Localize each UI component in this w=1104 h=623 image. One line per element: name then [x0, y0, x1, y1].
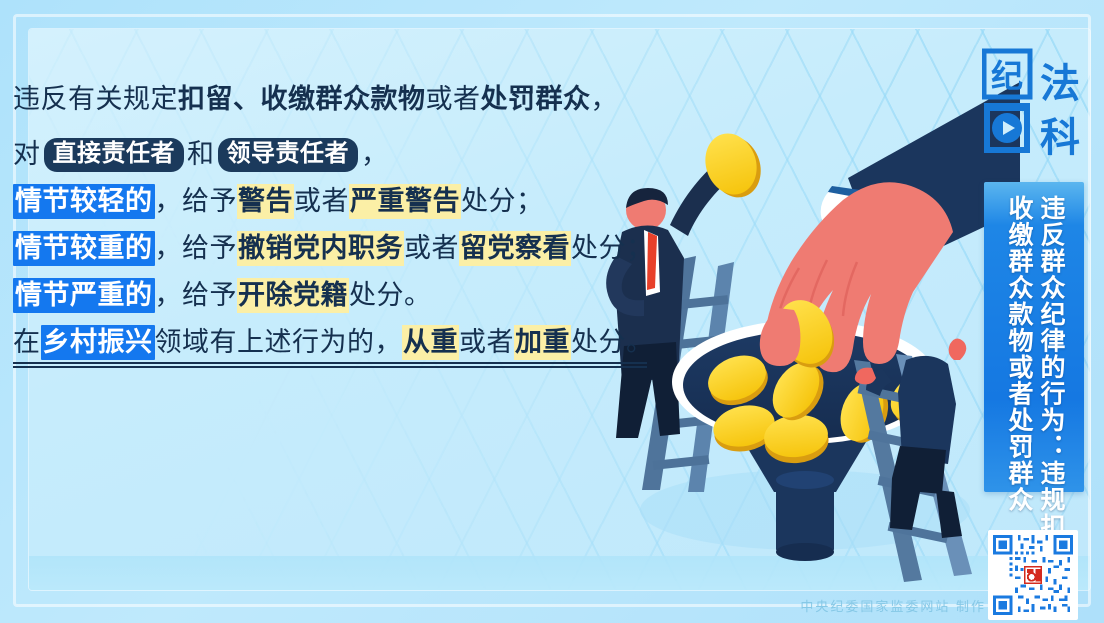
line3-seg-5: 处分； — [461, 186, 544, 216]
line6-seg-0: 在 — [13, 327, 41, 357]
line4-hl-yellow-1: 撤销党内职务 — [237, 231, 404, 266]
line3-seg-1: ，给予 — [155, 186, 238, 216]
line1-seg-3: 处罚群众 — [481, 84, 591, 114]
line2-seg-2: 和 — [187, 139, 215, 169]
line3-hl-yellow-1: 警告 — [237, 184, 294, 219]
line6-seg-6: 处分。 — [571, 327, 654, 357]
line5-seg-3: 处分。 — [349, 280, 432, 310]
line2-seg-4: ， — [361, 139, 389, 169]
line4-seg-5: 处分； — [571, 233, 654, 263]
line1-seg-0: 违反有关规定 — [13, 84, 178, 114]
pill-leadership-responsible: 领导责任者 — [218, 138, 359, 172]
line4-seg-3: 或者 — [404, 233, 459, 263]
logo-char-fa: 法 — [1040, 61, 1080, 106]
line1-double-underline — [13, 362, 647, 368]
banner-column-left: 收缴群众款物或者处罚群众 — [1003, 195, 1033, 482]
line1-seg-2: 或者 — [426, 84, 481, 114]
line3-hl-yellow-2: 严重警告 — [349, 184, 461, 219]
pill-direct-responsible: 直接责任者 — [44, 138, 185, 172]
line6-hl-yellow-1: 从重 — [402, 325, 459, 360]
text-line-4: 情节较重的，给予撤销党内职务或者留党察看处分； — [13, 225, 643, 272]
qr-code[interactable] — [988, 530, 1078, 620]
poster-canvas: 违反有关规定扣留、收缴群众款物或者处罚群众， 对直接责任者和领导责任者， 情节较… — [0, 0, 1104, 623]
line5-hl-blue: 情节严重的 — [13, 278, 155, 313]
brand-logo-jifa-baike[interactable]: 纪 法 科 — [982, 45, 1087, 160]
line3-hl-blue: 情节较轻的 — [13, 184, 155, 219]
line1-seg-4: ， — [591, 84, 619, 114]
text-line-2: 对直接责任者和领导责任者， — [13, 131, 643, 178]
right-rail: 纪 法 科 违反群众纪律的行为：违规扣留、 收缴群众款物或者处罚群众 — [974, 30, 1094, 600]
line6-seg-2: 领域有上述行为的， — [155, 327, 403, 357]
text-line-6: 在乡村振兴领域有上述行为的，从重或者加重处分。 — [13, 319, 643, 366]
line5-hl-yellow: 开除党籍 — [237, 278, 349, 313]
body-text-block: 违反有关规定扣留、收缴群众款物或者处罚群众， 对直接责任者和领导责任者， 情节较… — [13, 76, 643, 366]
line4-hl-blue: 情节较重的 — [13, 231, 155, 266]
line6-hl-yellow-2: 加重 — [514, 325, 571, 360]
logo-char-ji: 纪 — [991, 58, 1023, 94]
line4-seg-1: ，给予 — [155, 233, 238, 263]
qr-center-logo — [1023, 565, 1042, 584]
line6-seg-4: 或者 — [459, 327, 514, 357]
illustration-hand-coins-funnel — [600, 60, 1020, 600]
logo-char-ke: 科 — [1040, 115, 1080, 160]
text-line-1: 违反有关规定扣留、收缴群众款物或者处罚群众， — [13, 76, 643, 123]
text-line-5: 情节严重的，给予开除党籍处分。 — [13, 272, 643, 319]
line2-seg-0: 对 — [13, 139, 41, 169]
line4-hl-yellow-2: 留党察看 — [459, 231, 571, 266]
line5-seg-1: ，给予 — [155, 280, 238, 310]
banner-column-right: 违反群众纪律的行为：违规扣留、 — [1035, 195, 1065, 482]
text-line-3: 情节较轻的，给予警告或者严重警告处分； — [13, 178, 643, 225]
line6-hl-blue: 乡村振兴 — [41, 325, 155, 360]
credit-text: 中央纪委国家监委网站 制作 — [800, 596, 986, 615]
line3-seg-3: 或者 — [294, 186, 349, 216]
line1-seg-1: 扣留、收缴群众款物 — [178, 84, 426, 114]
vertical-title-banner: 违反群众纪律的行为：违规扣留、 收缴群众款物或者处罚群众 — [984, 182, 1084, 492]
